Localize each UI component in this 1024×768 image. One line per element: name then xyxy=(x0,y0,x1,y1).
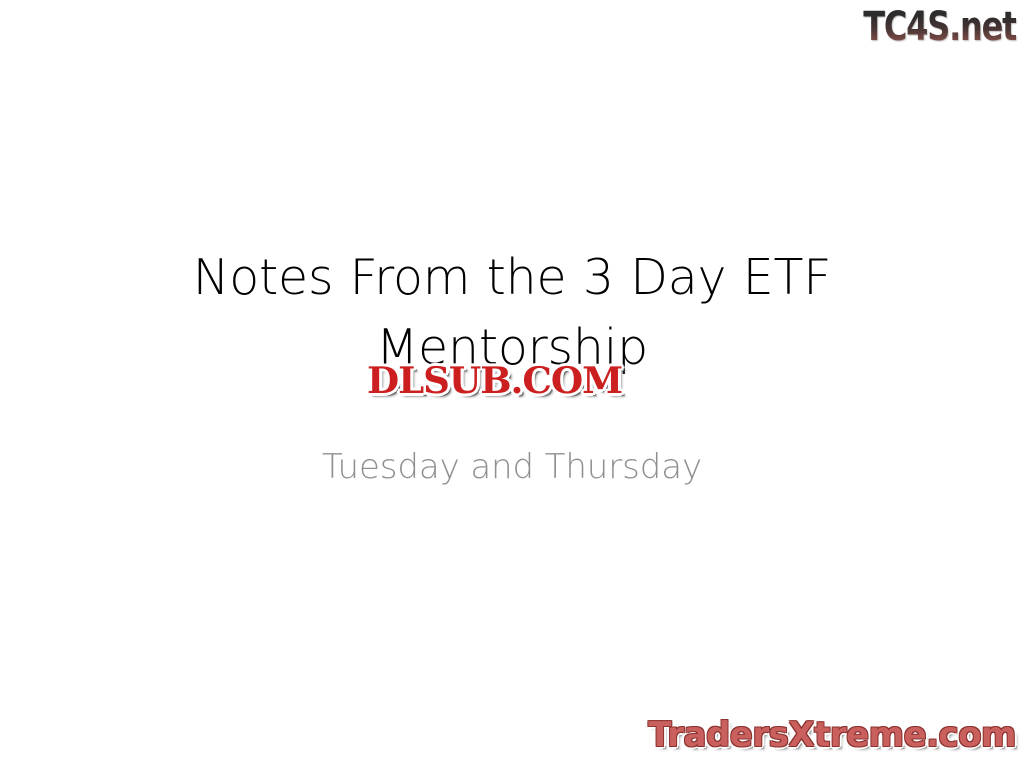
tc4s-watermark-text: TC4S.net xyxy=(863,2,1016,52)
presentation-slide: TC4S.net Notes From the 3 Day ETF Mentor… xyxy=(0,0,1024,768)
dlsub-watermark: DLSUB.COM xyxy=(367,360,615,402)
page-subtitle: Tuesday and Thursday xyxy=(112,443,912,491)
tradersxtreme-watermark: TradersXtreme.com xyxy=(648,714,1016,756)
tc4s-watermark: TC4S.net xyxy=(825,2,1016,52)
tradersxtreme-watermark-text: TradersXtreme.com xyxy=(648,714,1016,756)
subtitle-placeholder: Tuesday and Thursday xyxy=(112,443,912,491)
dlsub-watermark-text: DLSUB.COM xyxy=(367,360,622,402)
